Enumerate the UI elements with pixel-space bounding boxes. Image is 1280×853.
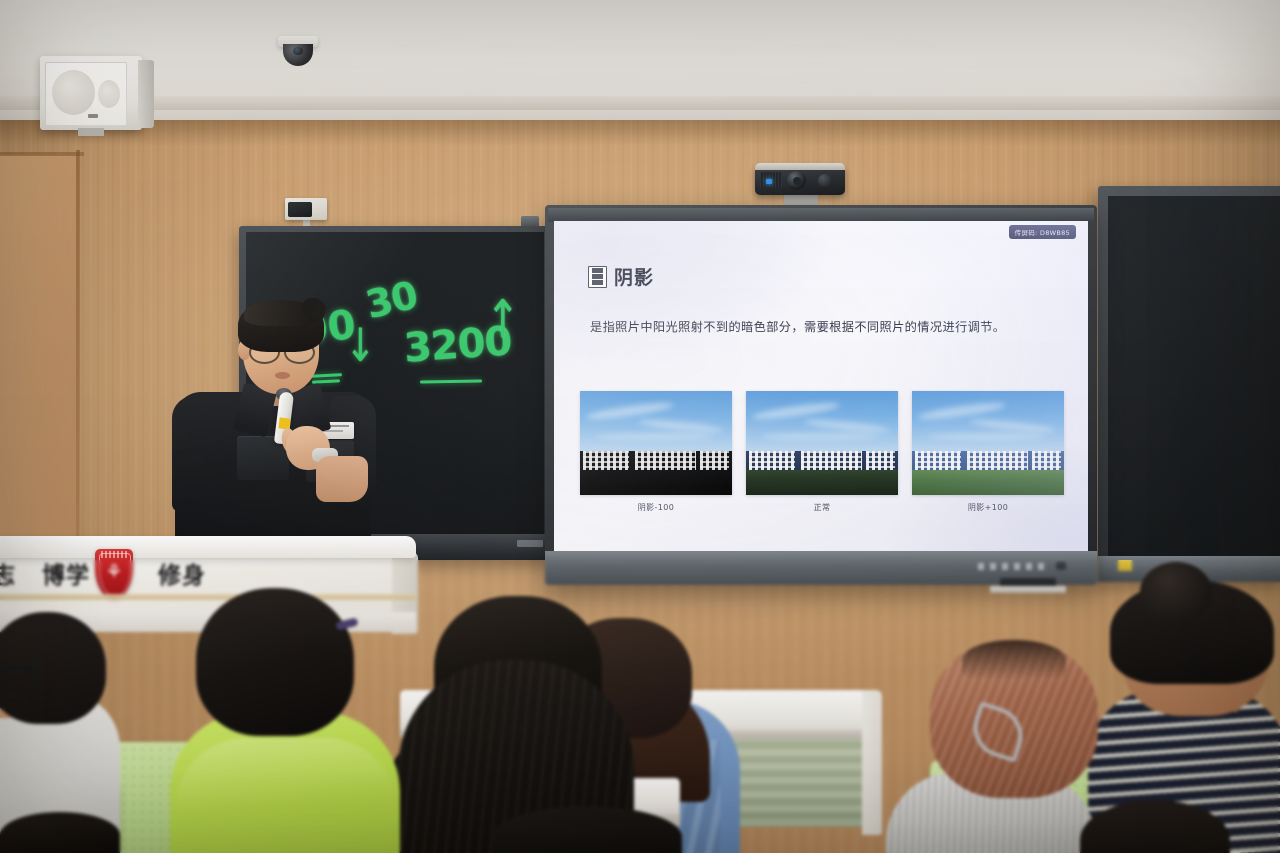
chalk-arrow-up-icon: ↑: [485, 290, 520, 350]
webcam-status-led: [766, 179, 772, 184]
photo-column: 阴影+100: [912, 391, 1064, 513]
photo-caption: 阴影+100: [912, 502, 1064, 513]
podium-worktop: [0, 536, 416, 558]
display-control-buttons[interactable]: [978, 563, 1050, 570]
desk-side-panel: [862, 690, 882, 835]
display-stand-base: [990, 586, 1066, 593]
display-top-bezel: [548, 208, 1094, 222]
slide-title: 阴影: [614, 263, 654, 290]
blackboard-right-label: [1118, 560, 1132, 571]
display-ir-receiver: [1056, 562, 1066, 570]
audience-glasses: [0, 666, 40, 698]
speaker-side-panel: [138, 60, 154, 128]
foreground-head-silhouette: [0, 812, 120, 853]
audience-head: [196, 588, 354, 736]
wall-sensor-lens: [288, 202, 312, 217]
classroom-door[interactable]: [0, 155, 80, 550]
school-emblem-glyph: ⚘: [104, 562, 124, 582]
webcam-lens-inner: [793, 177, 801, 185]
photo-caption: 正常: [746, 502, 898, 513]
audience-hair-roots: [962, 640, 1066, 680]
podium-motto-right: 修身: [158, 556, 206, 590]
webcam-secondary-lens: [818, 174, 831, 187]
film-strip-icon: [588, 266, 607, 288]
wall-sensor-bracket: [303, 219, 310, 226]
slide-body-text: 是指照片中阳光照射不到的暗色部分，需要根据不同照片的情况进行调节。: [590, 316, 1050, 340]
photo-shadow-minus-100: [580, 391, 732, 495]
door-reveal: [76, 150, 80, 555]
speaker-label: [88, 114, 98, 118]
classroom-photo: 00 ↓ 30 3200 ↑ 传屏码: D8WB85 阴影 是指照片中阳光照: [0, 0, 1280, 853]
display-screen[interactable]: 传屏码: D8WB85 阴影 是指照片中阳光照射不到的暗色部分，需要根据不同照片…: [554, 221, 1088, 553]
blackboard-right-surface[interactable]: [1108, 196, 1280, 562]
shirt-highlight: [176, 738, 396, 853]
presentation-slide[interactable]: 传屏码: D8WB85 阴影 是指照片中阳光照射不到的暗色部分，需要根据不同照片…: [554, 221, 1088, 553]
video-bar-top-plate: [755, 163, 845, 170]
podium-trim-band: [0, 594, 416, 600]
school-emblem-top-text: [101, 551, 127, 558]
speaker-woofer: [52, 70, 95, 115]
photo-column: 阴影-100: [580, 391, 732, 513]
podium-motto-middle: 博学: [42, 556, 90, 590]
photo-caption: 阴影-100: [580, 502, 732, 513]
door-header: [0, 152, 84, 156]
audience-hair-bun: [1140, 562, 1212, 622]
slide-photo-row: 阴影-100 正常 阴影+100: [580, 391, 1064, 513]
presenter-mouth: [275, 372, 290, 379]
presenter-forearm: [316, 456, 368, 502]
podium-motto-left: 志: [0, 556, 16, 590]
blackboard-left-brand-tag: [517, 540, 543, 547]
ceiling-beam: [0, 96, 1280, 110]
wall-top-shadow: [0, 120, 1280, 146]
photo-column: 正常: [746, 391, 898, 513]
photo-shadow-plus-100: [912, 391, 1064, 495]
speaker-mount-bracket: [78, 128, 104, 136]
screen-cast-code-badge: 传屏码: D8WB85: [1009, 225, 1076, 239]
slide-title-row: 阴影: [588, 263, 654, 290]
photo-normal: [746, 391, 898, 495]
dome-camera-lens: [293, 47, 303, 55]
speaker-tweeter: [98, 80, 120, 108]
